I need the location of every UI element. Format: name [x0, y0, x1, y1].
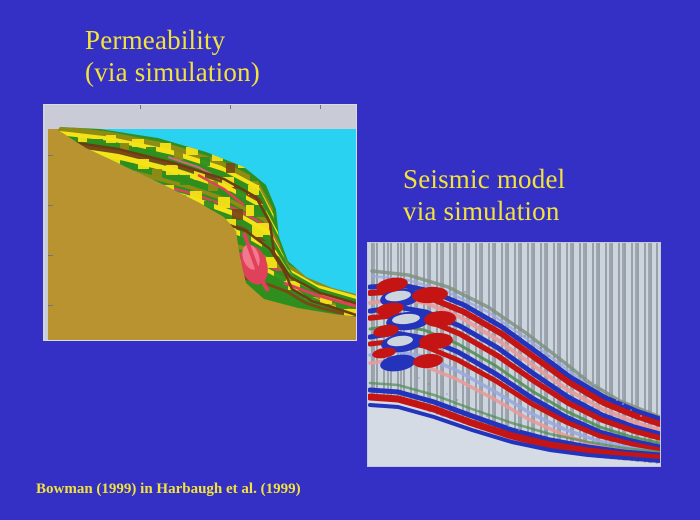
seismic-fold-structures: [371, 275, 456, 373]
seismic-plot-area: [368, 243, 660, 466]
perm-tick-left-2: [48, 205, 53, 206]
page-title-permeability: Permeability (via simulation): [85, 24, 260, 88]
seismic-reflectors: [368, 243, 660, 466]
permeability-sediment-layers: [48, 105, 357, 341]
perm-tick-left-1: [48, 155, 53, 156]
perm-tick-left-4: [48, 305, 53, 306]
slide-canvas: Permeability (via simulation): [0, 0, 700, 520]
perm-tick-top-1: [140, 105, 141, 109]
citation-text: Bowman (1999) in Harbaugh et al. (1999): [36, 481, 301, 498]
permeability-plot-area: [48, 105, 357, 341]
seismic-model-figure: [367, 242, 661, 467]
page-title-seismic: Seismic model via simulation: [403, 163, 565, 227]
perm-tick-top-2: [230, 105, 231, 109]
permeability-cross-section-figure: [43, 104, 357, 341]
perm-tick-top-3: [320, 105, 321, 109]
perm-tick-left-3: [48, 255, 53, 256]
